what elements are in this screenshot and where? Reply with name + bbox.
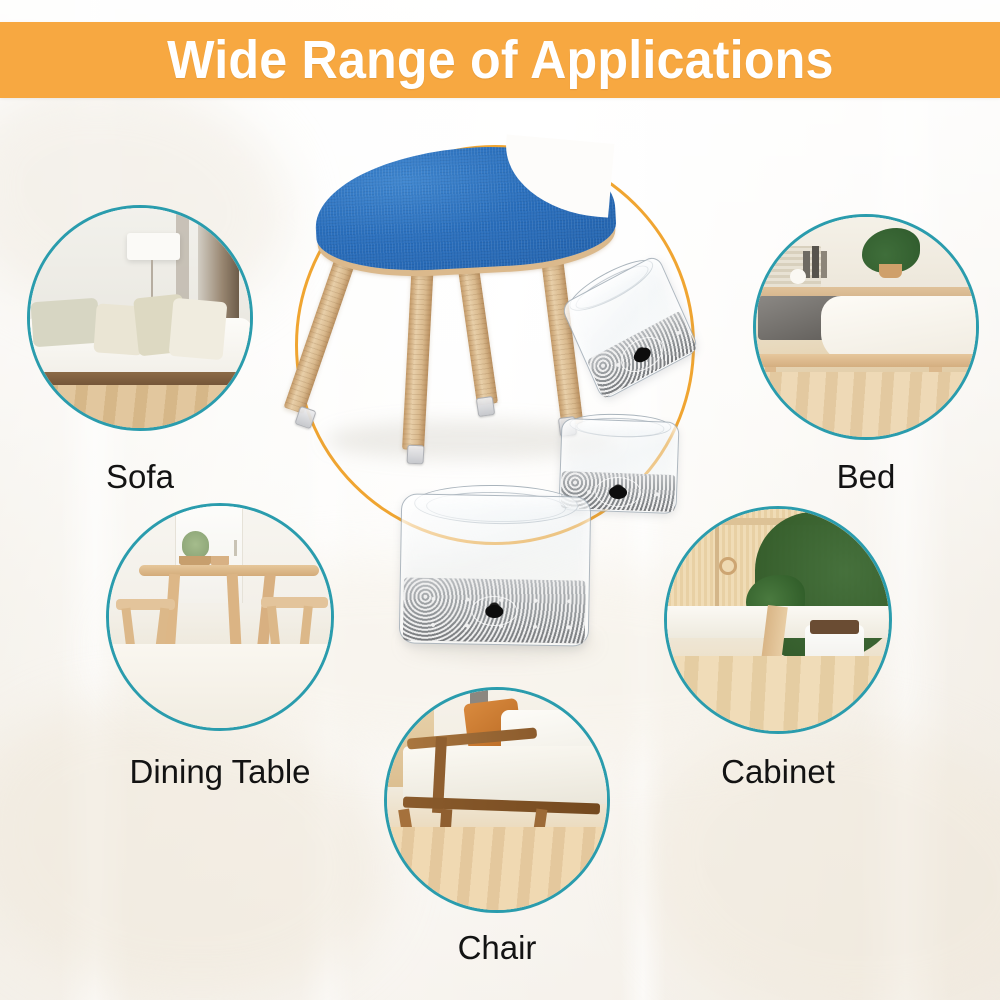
- application-label-sofa: Sofa: [40, 459, 240, 495]
- application-label-cabinet: Cabinet: [668, 754, 888, 790]
- application-label-bed: Bed: [766, 459, 966, 495]
- stool-leg-left: [284, 256, 356, 414]
- application-label-chair: Chair: [397, 930, 597, 966]
- header-banner: Wide Range of Applications: [0, 22, 1000, 98]
- application-circle-cabinet[interactable]: [664, 506, 892, 734]
- application-circle-bed[interactable]: [753, 214, 979, 440]
- stool-leg-cap-center: [407, 445, 425, 465]
- page-title: Wide Range of Applications: [167, 32, 834, 88]
- application-circle-sofa[interactable]: [27, 205, 253, 431]
- bed-photo: [754, 215, 978, 439]
- stool-leg-mid: [457, 259, 498, 406]
- stool-leg-cap-mid: [476, 396, 495, 417]
- poster-canvas: Wide Range of Applications: [0, 0, 1000, 1000]
- dining-table-photo: [107, 504, 333, 730]
- sofa-photo: [28, 206, 252, 430]
- application-circle-dining-table[interactable]: [106, 503, 334, 731]
- cabinet-photo: [665, 507, 891, 733]
- application-circle-chair[interactable]: [384, 687, 610, 913]
- application-label-dining-table: Dining Table: [100, 754, 340, 790]
- leg-cap-felt-pad: [403, 577, 586, 643]
- leg-cap-product-large: [399, 493, 592, 646]
- stool-seat: [312, 140, 618, 276]
- chair-photo: [385, 688, 609, 912]
